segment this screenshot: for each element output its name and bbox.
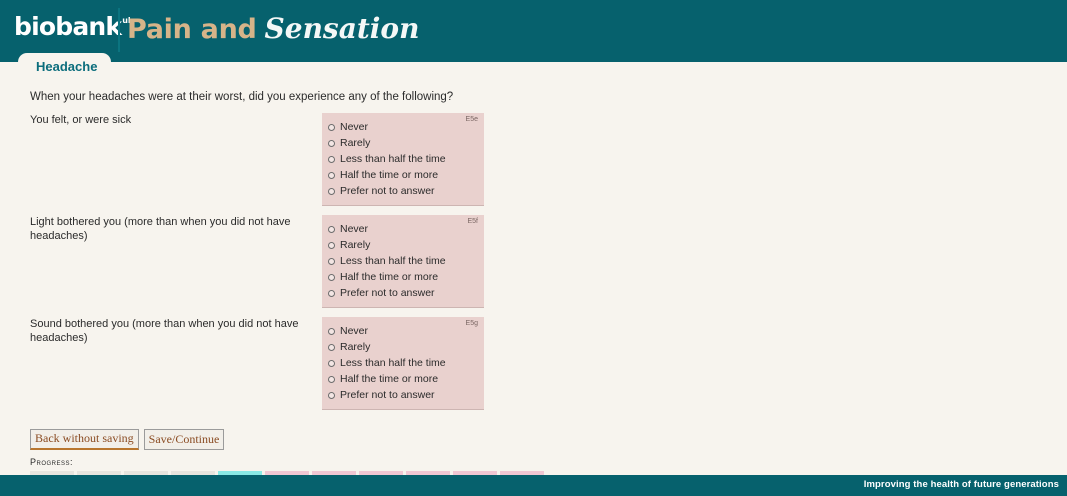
app-header: biobank uk Pain andSensation (0, 0, 1067, 62)
option-label: Never (340, 325, 368, 338)
footer-tagline: Improving the health of future generatio… (864, 479, 1059, 490)
app-footer: Improving the health of future generatio… (0, 475, 1067, 496)
option-prefer-not-to-answer[interactable]: Prefer not to answer (322, 285, 484, 301)
option-label: Never (340, 223, 368, 236)
option-never[interactable]: Never (322, 221, 484, 237)
answer-block: E5e Never Rarely Less than half the time… (322, 113, 484, 206)
question-label: Sound bothered you (more than when you d… (30, 317, 300, 345)
option-label: Prefer not to answer (340, 389, 435, 402)
question-code: E5g (466, 320, 478, 327)
option-label: Half the time or more (340, 169, 438, 182)
radio-icon[interactable] (328, 290, 335, 297)
page-title-primary: Pain and (127, 14, 257, 45)
option-label: Rarely (340, 341, 370, 354)
option-half-the-time-or-more[interactable]: Half the time or more (322, 167, 484, 183)
tab-headache-label: Headache (36, 59, 97, 74)
save-continue-button[interactable]: Save/Continue (144, 429, 225, 450)
option-label: Rarely (340, 137, 370, 150)
option-label: Never (340, 121, 368, 134)
lead-question: When your headaches were at their worst,… (30, 91, 453, 103)
option-half-the-time-or-more[interactable]: Half the time or more (322, 269, 484, 285)
tab-headache[interactable]: Headache (18, 53, 111, 79)
header-divider (118, 8, 120, 52)
question-label: You felt, or were sick (30, 113, 300, 127)
option-less-than-half-the-time[interactable]: Less than half the time (322, 151, 484, 167)
progress-label: Progress: (30, 457, 544, 467)
option-label: Half the time or more (340, 373, 438, 386)
option-rarely[interactable]: Rarely (322, 135, 484, 151)
answer-block: E5g Never Rarely Less than half the time… (322, 317, 484, 410)
option-less-than-half-the-time[interactable]: Less than half the time (322, 253, 484, 269)
back-without-saving-button[interactable]: Back without saving (30, 429, 139, 450)
option-label: Half the time or more (340, 271, 438, 284)
option-never[interactable]: Never (322, 119, 484, 135)
option-less-than-half-the-time[interactable]: Less than half the time (322, 355, 484, 371)
option-rarely[interactable]: Rarely (322, 237, 484, 253)
option-label: Less than half the time (340, 153, 446, 166)
radio-icon[interactable] (328, 226, 335, 233)
page-title: Pain andSensation (127, 12, 419, 45)
question-code: E5e (466, 116, 478, 123)
option-label: Prefer not to answer (340, 185, 435, 198)
page-title-secondary: Sensation (265, 12, 420, 45)
option-label: Less than half the time (340, 255, 446, 268)
option-rarely[interactable]: Rarely (322, 339, 484, 355)
radio-icon[interactable] (328, 344, 335, 351)
radio-icon[interactable] (328, 188, 335, 195)
option-label: Prefer not to answer (340, 287, 435, 300)
option-half-the-time-or-more[interactable]: Half the time or more (322, 371, 484, 387)
radio-icon[interactable] (328, 242, 335, 249)
question-code: E5f (467, 218, 478, 225)
main-content: When your headaches were at their worst,… (0, 79, 1067, 475)
option-label: Less than half the time (340, 357, 446, 370)
radio-icon[interactable] (328, 376, 335, 383)
option-never[interactable]: Never (322, 323, 484, 339)
answer-block: E5f Never Rarely Less than half the time… (322, 215, 484, 308)
radio-icon[interactable] (328, 124, 335, 131)
radio-icon[interactable] (328, 360, 335, 367)
biobank-logo: biobank uk (14, 14, 133, 40)
radio-icon[interactable] (328, 172, 335, 179)
option-label: Rarely (340, 239, 370, 252)
option-prefer-not-to-answer[interactable]: Prefer not to answer (322, 183, 484, 199)
form-actions: Back without saving Save/Continue (30, 429, 224, 450)
radio-icon[interactable] (328, 156, 335, 163)
radio-icon[interactable] (328, 328, 335, 335)
logo-wordmark: biobank (14, 14, 121, 40)
radio-icon[interactable] (328, 392, 335, 399)
option-prefer-not-to-answer[interactable]: Prefer not to answer (322, 387, 484, 403)
radio-icon[interactable] (328, 140, 335, 147)
radio-icon[interactable] (328, 274, 335, 281)
question-label: Light bothered you (more than when you d… (30, 215, 300, 243)
radio-icon[interactable] (328, 258, 335, 265)
